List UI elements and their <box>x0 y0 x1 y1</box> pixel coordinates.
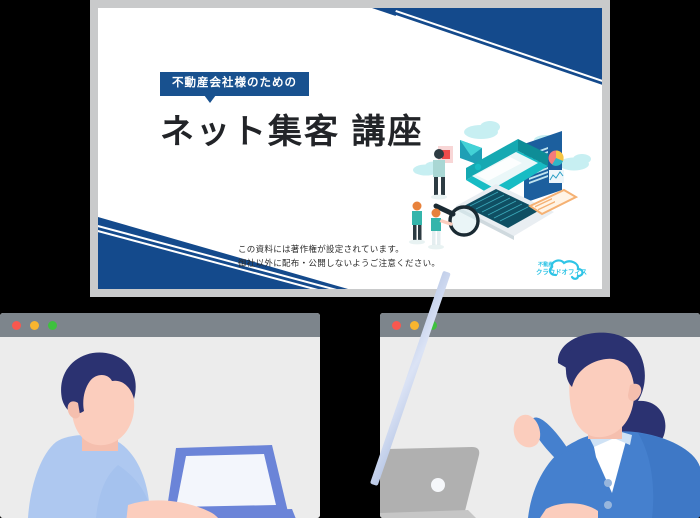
copyright-line-2: 御社以外に配布・公開しないようご注意ください。 <box>238 256 440 270</box>
copyright-line-1: この資料には著作権が設定されています。 <box>238 242 440 256</box>
presentation-slide-frame: 不動産会社様のための ネット集客 講座 この資料には著作権が設定されています。 … <box>90 0 610 297</box>
window-titlebar-left[interactable] <box>0 313 320 337</box>
student-window[interactable] <box>0 313 320 518</box>
blazer-button-1 <box>604 479 612 487</box>
logo-text-line1: 不動産 <box>538 260 554 268</box>
top-right-corner-decoration <box>372 8 602 86</box>
maximize-icon[interactable] <box>48 321 57 330</box>
close-icon[interactable] <box>392 321 401 330</box>
close-icon[interactable] <box>12 321 21 330</box>
badge-pointer-tail <box>204 95 216 103</box>
student-illustration <box>0 337 320 518</box>
cloud-logo-icon: 不動産 クラウドオフィス <box>536 255 590 281</box>
blazer-button-2 <box>604 501 612 509</box>
slide-badge-label: 不動産会社様のための <box>160 72 309 96</box>
window-body-left <box>0 337 320 518</box>
minimize-icon[interactable] <box>410 321 419 330</box>
instructor-laptop <box>380 447 479 518</box>
instructor-window[interactable] <box>380 313 700 518</box>
person-left <box>409 202 425 245</box>
minimize-icon[interactable] <box>30 321 39 330</box>
instructor-figure <box>514 333 700 518</box>
brand-logo: 不動産 クラウドオフィス <box>536 255 590 281</box>
slide-copyright-notice: この資料には著作権が設定されています。 御社以外に配布・公開しないようご注意くだ… <box>238 242 440 271</box>
window-body-right <box>380 337 700 518</box>
slide-title: ネット集客 講座 <box>160 112 423 153</box>
logo-text-line2: クラウドオフィス <box>536 267 587 276</box>
instructor-illustration <box>380 337 700 518</box>
page-root: 不動産会社様のための ネット集客 講座 この資料には著作権が設定されています。 … <box>0 0 700 518</box>
slide-badge: 不動産会社様のための <box>160 72 309 96</box>
laptop-logo-dot <box>431 478 445 492</box>
presentation-slide: 不動産会社様のための ネット集客 講座 この資料には著作権が設定されています。 … <box>98 8 602 289</box>
line-chart-icon <box>549 170 564 183</box>
